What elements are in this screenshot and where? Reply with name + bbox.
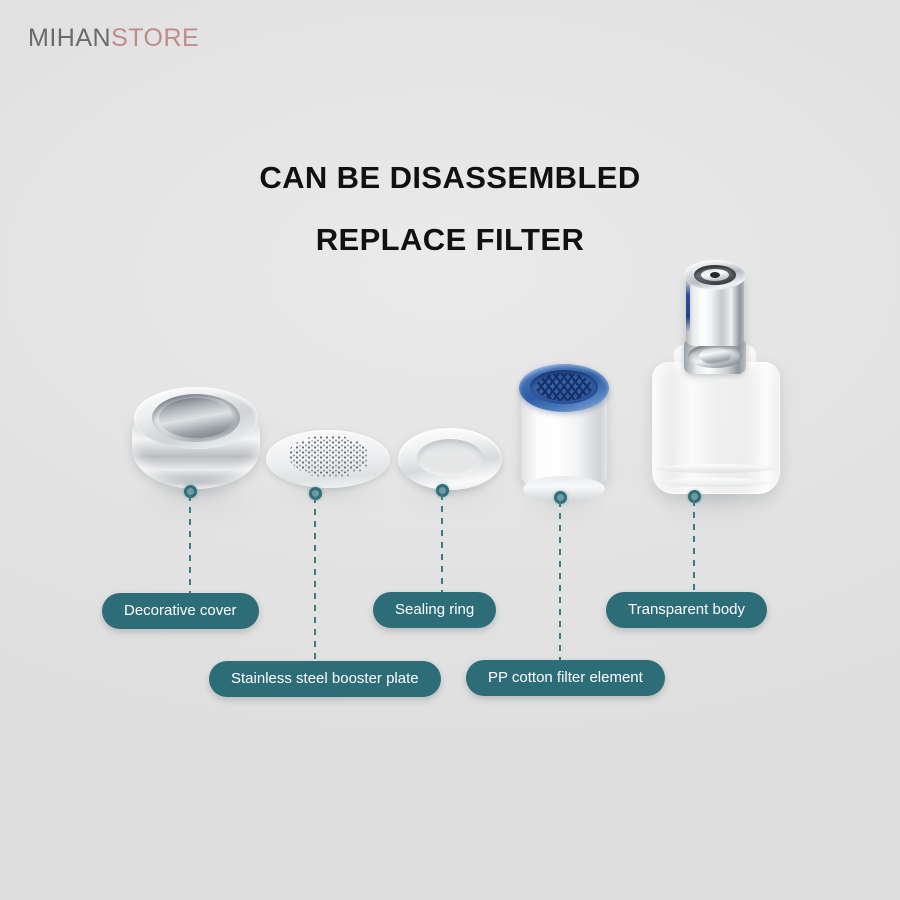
- headline-secondary: REPLACE FILTER: [0, 222, 900, 258]
- barrel-blue-accent-stripe: [686, 282, 690, 332]
- brand-logo: MIHANSTORE: [28, 24, 199, 53]
- chrome-cap-aperture: [710, 272, 720, 278]
- product-part-decorative-cover: [128, 385, 264, 505]
- brand-name-primary: MIHAN: [28, 24, 111, 52]
- label-booster-plate[interactable]: Stainless steel booster plate: [209, 661, 441, 697]
- sealing-ring-aperture: [417, 439, 483, 477]
- product-infographic: MIHANSTORE CAN BE DISASSEMBLED REPLACE F…: [0, 0, 900, 900]
- product-part-transparent-body: [652, 258, 778, 510]
- chrome-swivel-ball: [699, 348, 731, 364]
- label-pp-filter[interactable]: PP cotton filter element: [466, 660, 665, 696]
- product-part-pp-cotton-filter: [519, 358, 609, 506]
- label-sealing-ring[interactable]: Sealing ring: [373, 592, 496, 628]
- plate-perforation-pattern-shadow: [291, 438, 371, 478]
- transparent-housing-rib-upper: [656, 464, 774, 473]
- leader-line-pp-filter: [559, 501, 561, 661]
- brand-name-secondary: STORE: [111, 24, 199, 52]
- cover-recess-inner: [159, 398, 233, 438]
- transparent-housing-rib-lower: [660, 478, 770, 487]
- headline-primary: CAN BE DISASSEMBLED: [0, 160, 900, 196]
- reflection-transparent-body: [657, 488, 773, 532]
- leader-line-decorative-cover: [189, 495, 191, 593]
- label-transparent-body[interactable]: Transparent body: [606, 592, 767, 628]
- leader-line-transparent-body: [693, 500, 695, 593]
- product-part-booster-plate: [266, 424, 390, 496]
- leader-line-sealing-ring: [441, 494, 443, 593]
- leader-line-booster-plate: [314, 497, 316, 661]
- product-part-sealing-ring: [398, 424, 502, 496]
- filter-cap-grid: [536, 373, 592, 401]
- label-decorative-cover[interactable]: Decorative cover: [102, 593, 259, 629]
